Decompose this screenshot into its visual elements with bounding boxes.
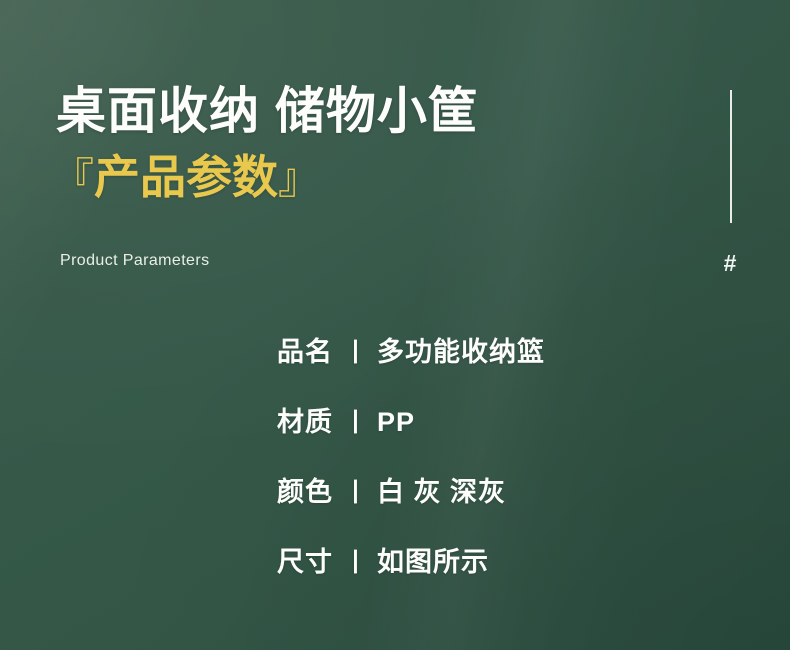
spec-key: 尺寸 <box>277 540 333 579</box>
spec-value: 多功能收纳篮 <box>377 330 545 369</box>
spec-row: 颜色 丨 白 灰 深灰 <box>277 470 717 540</box>
spec-row: 尺寸 丨 如图所示 <box>277 540 717 610</box>
spec-separator: 丨 <box>333 403 377 439</box>
page-title: 桌面收纳 储物小筐 <box>56 80 696 142</box>
page-subtitle-text: 产品参数 <box>94 151 278 203</box>
bracket-close: 』 <box>278 155 320 202</box>
spec-value: 如图所示 <box>377 540 489 579</box>
headline-block: 桌面收纳 储物小筐 『产品参数』 <box>56 80 696 208</box>
spec-separator: 丨 <box>333 333 377 369</box>
spec-key: 材质 <box>277 400 333 439</box>
spec-list: 品名 丨 多功能收纳篮 材质 丨 PP 颜色 丨 白 灰 深灰 尺寸 丨 如图所… <box>277 330 717 610</box>
vertical-rule-divider <box>730 90 732 223</box>
bracket-open: 『 <box>52 155 94 202</box>
spec-key: 品名 <box>277 330 333 369</box>
spec-value: 白 灰 深灰 <box>377 470 506 509</box>
product-parameters-poster: 桌面收纳 储物小筐 『产品参数』 Product Parameters # 品名… <box>0 0 790 650</box>
page-subtitle: 『产品参数』 <box>52 148 696 208</box>
subtitle-english: Product Parameters <box>60 252 209 270</box>
spec-value: PP <box>377 407 415 438</box>
spec-separator: 丨 <box>333 543 377 579</box>
spec-row: 品名 丨 多功能收纳篮 <box>277 330 717 400</box>
hash-icon: # <box>715 250 745 276</box>
spec-row: 材质 丨 PP <box>277 400 717 470</box>
spec-key: 颜色 <box>277 470 333 509</box>
spec-separator: 丨 <box>333 473 377 509</box>
